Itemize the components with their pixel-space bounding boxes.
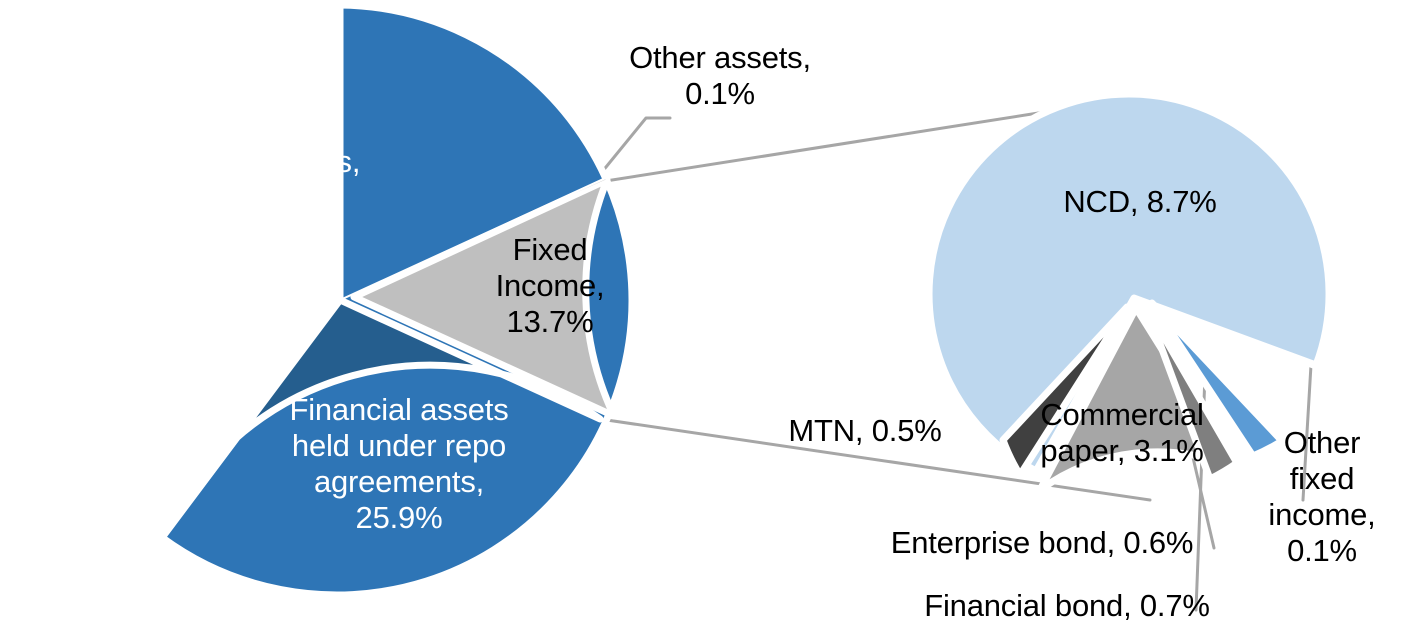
label-mtn: MTN, 0.5% bbox=[770, 413, 960, 449]
label-fixed-income: Fixed Income, 13.7% bbox=[470, 232, 630, 340]
label-financial-bond: Financial bond, 0.7% bbox=[902, 588, 1232, 624]
chart-canvas: Bank deposits, 60.3% Financial assets he… bbox=[0, 0, 1404, 644]
label-repo-agreements: Financial assets held under repo agreeme… bbox=[254, 392, 544, 536]
label-enterprise-bond: Enterprise bond, 0.6% bbox=[872, 525, 1212, 561]
label-other-fixed-income: Other fixed income, 0.1% bbox=[1252, 425, 1392, 569]
label-other-assets: Other assets, 0.1% bbox=[600, 40, 840, 112]
label-bank-deposits: Bank deposits, 60.3% bbox=[110, 144, 410, 216]
label-ncd: NCD, 8.7% bbox=[1030, 184, 1250, 220]
label-commercial-paper: Commercial paper, 3.1% bbox=[1012, 397, 1232, 469]
